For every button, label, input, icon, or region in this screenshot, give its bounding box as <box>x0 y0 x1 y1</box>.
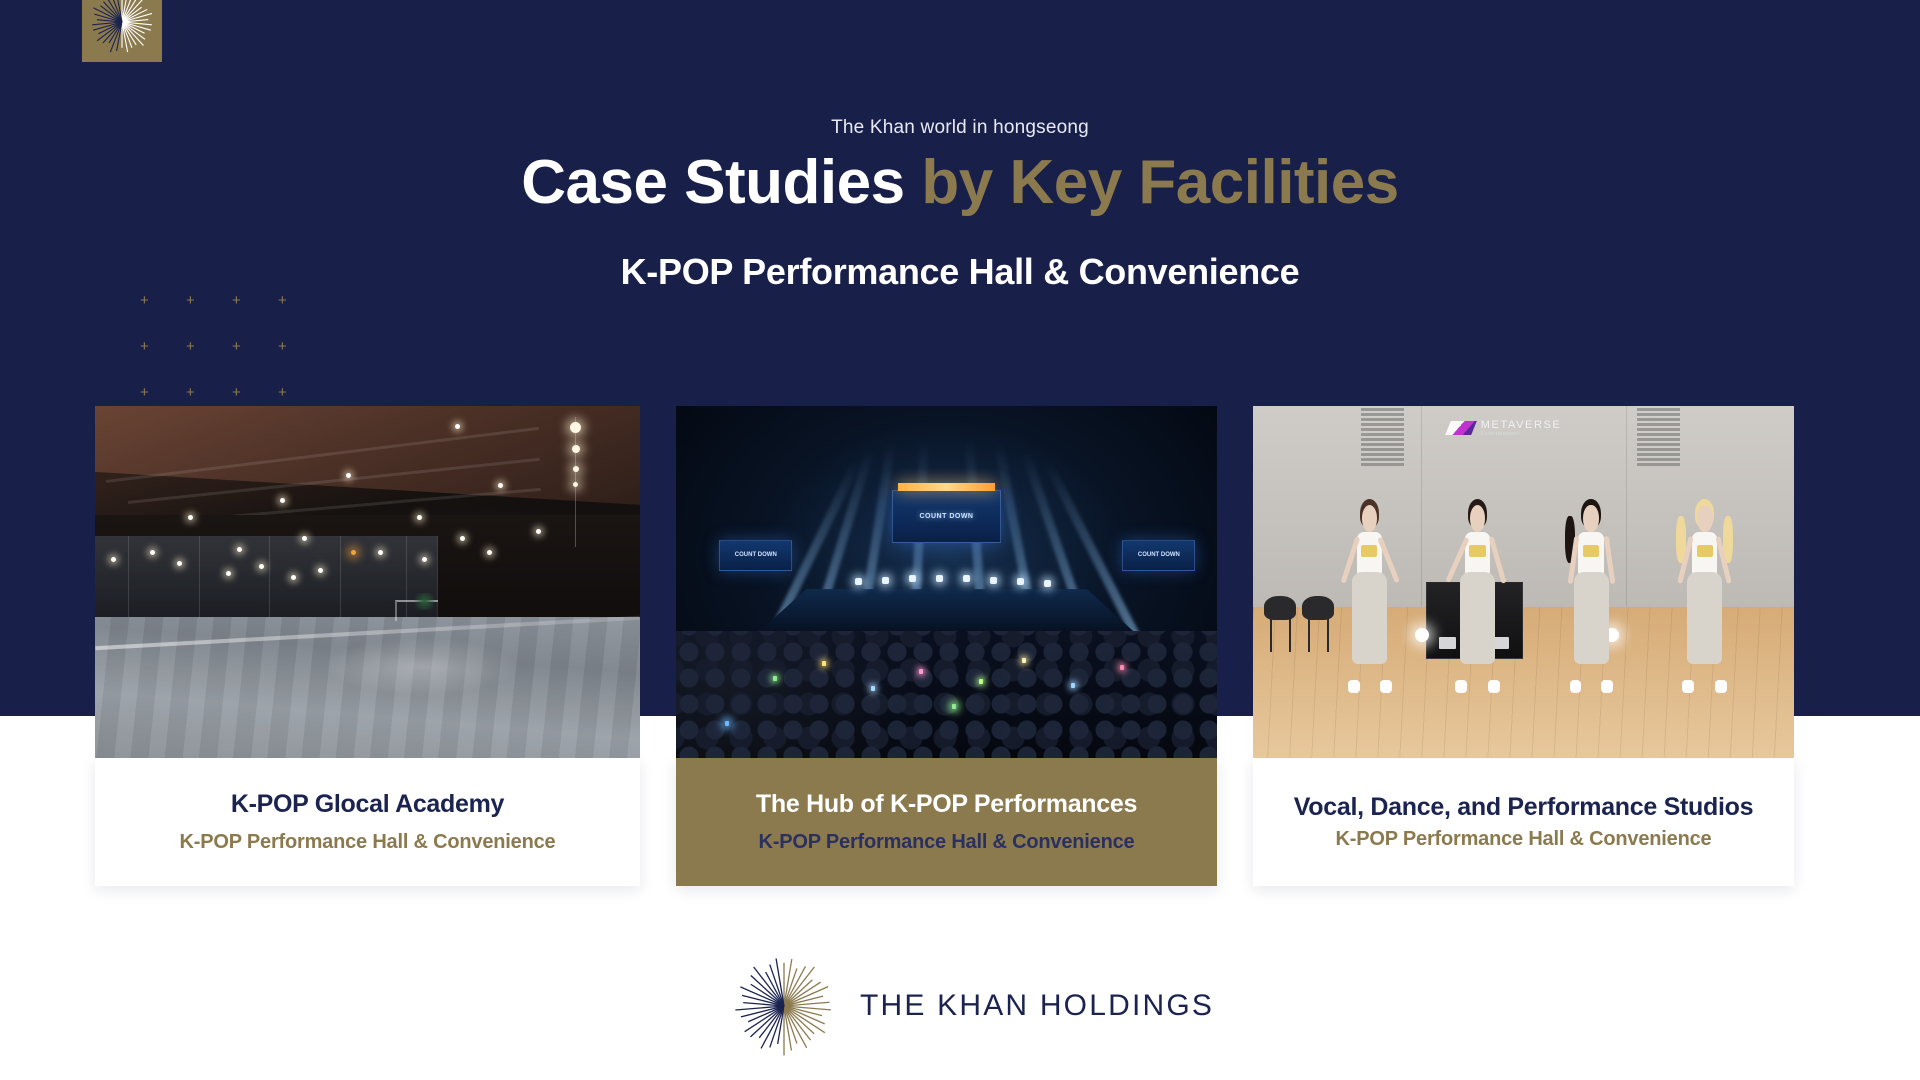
card-thumbnail[interactable]: COUNT DOWN COUNT DOWN COUNT DOWN <box>676 406 1217 758</box>
concert-arena-photo: COUNT DOWN COUNT DOWN COUNT DOWN <box>676 406 1217 758</box>
case-study-card-active[interactable]: COUNT DOWN COUNT DOWN COUNT DOWN <box>676 406 1217 886</box>
dancer-figure <box>1453 505 1502 688</box>
side-led-screen-right: COUNT DOWN <box>1122 540 1195 572</box>
metaverse-watermark: METAVERSE Entertainment <box>1448 420 1562 437</box>
card-subtitle: K-POP Performance Hall & Convenience <box>759 831 1135 854</box>
dancer-figure <box>1345 505 1394 688</box>
starburst-icon <box>730 952 838 1060</box>
card-caption: K-POP Glocal Academy K-POP Performance H… <box>95 758 640 886</box>
metaverse-logo-icon <box>1445 421 1477 435</box>
case-study-card[interactable]: METAVERSE Entertainment <box>1253 406 1794 886</box>
slide-root: + + + + + + + + + + + + The Khan world i… <box>0 0 1920 1080</box>
practice-room-photo: METAVERSE Entertainment <box>1253 406 1794 758</box>
screen-label: COUNT DOWN <box>893 491 999 542</box>
card-subtitle: K-POP Performance Hall & Convenience <box>180 831 556 854</box>
case-study-card-list: K-POP Glocal Academy K-POP Performance H… <box>0 0 1920 1080</box>
card-thumbnail[interactable] <box>95 406 640 758</box>
dance-studio-photo <box>95 406 640 758</box>
watermark-title: METAVERSE <box>1481 420 1562 432</box>
footer-brand[interactable]: THE KHAN HOLDINGS <box>730 952 1214 1060</box>
watermark-subtitle: Entertainment <box>1481 432 1562 437</box>
card-caption: The Hub of K-POP Performances K-POP Perf… <box>676 758 1217 886</box>
card-title: The Hub of K-POP Performances <box>756 790 1137 819</box>
card-title: K-POP Glocal Academy <box>231 790 504 819</box>
card-title: Vocal, Dance, and Performance Studios <box>1294 793 1753 823</box>
side-led-screen-left: COUNT DOWN <box>719 540 792 572</box>
dancer-figure <box>1680 505 1729 688</box>
card-caption: Vocal, Dance, and Performance Studios K-… <box>1253 758 1794 886</box>
stage-led-screen: COUNT DOWN <box>892 490 1000 543</box>
card-subtitle: K-POP Performance Hall & Convenience <box>1336 828 1712 851</box>
case-study-card[interactable]: K-POP Glocal Academy K-POP Performance H… <box>95 406 640 886</box>
card-thumbnail[interactable]: METAVERSE Entertainment <box>1253 406 1794 758</box>
footer: THE KHAN HOLDINGS › <box>0 930 1920 1080</box>
dancer-figure <box>1567 505 1616 688</box>
brand-wordmark: THE KHAN HOLDINGS <box>860 989 1214 1023</box>
